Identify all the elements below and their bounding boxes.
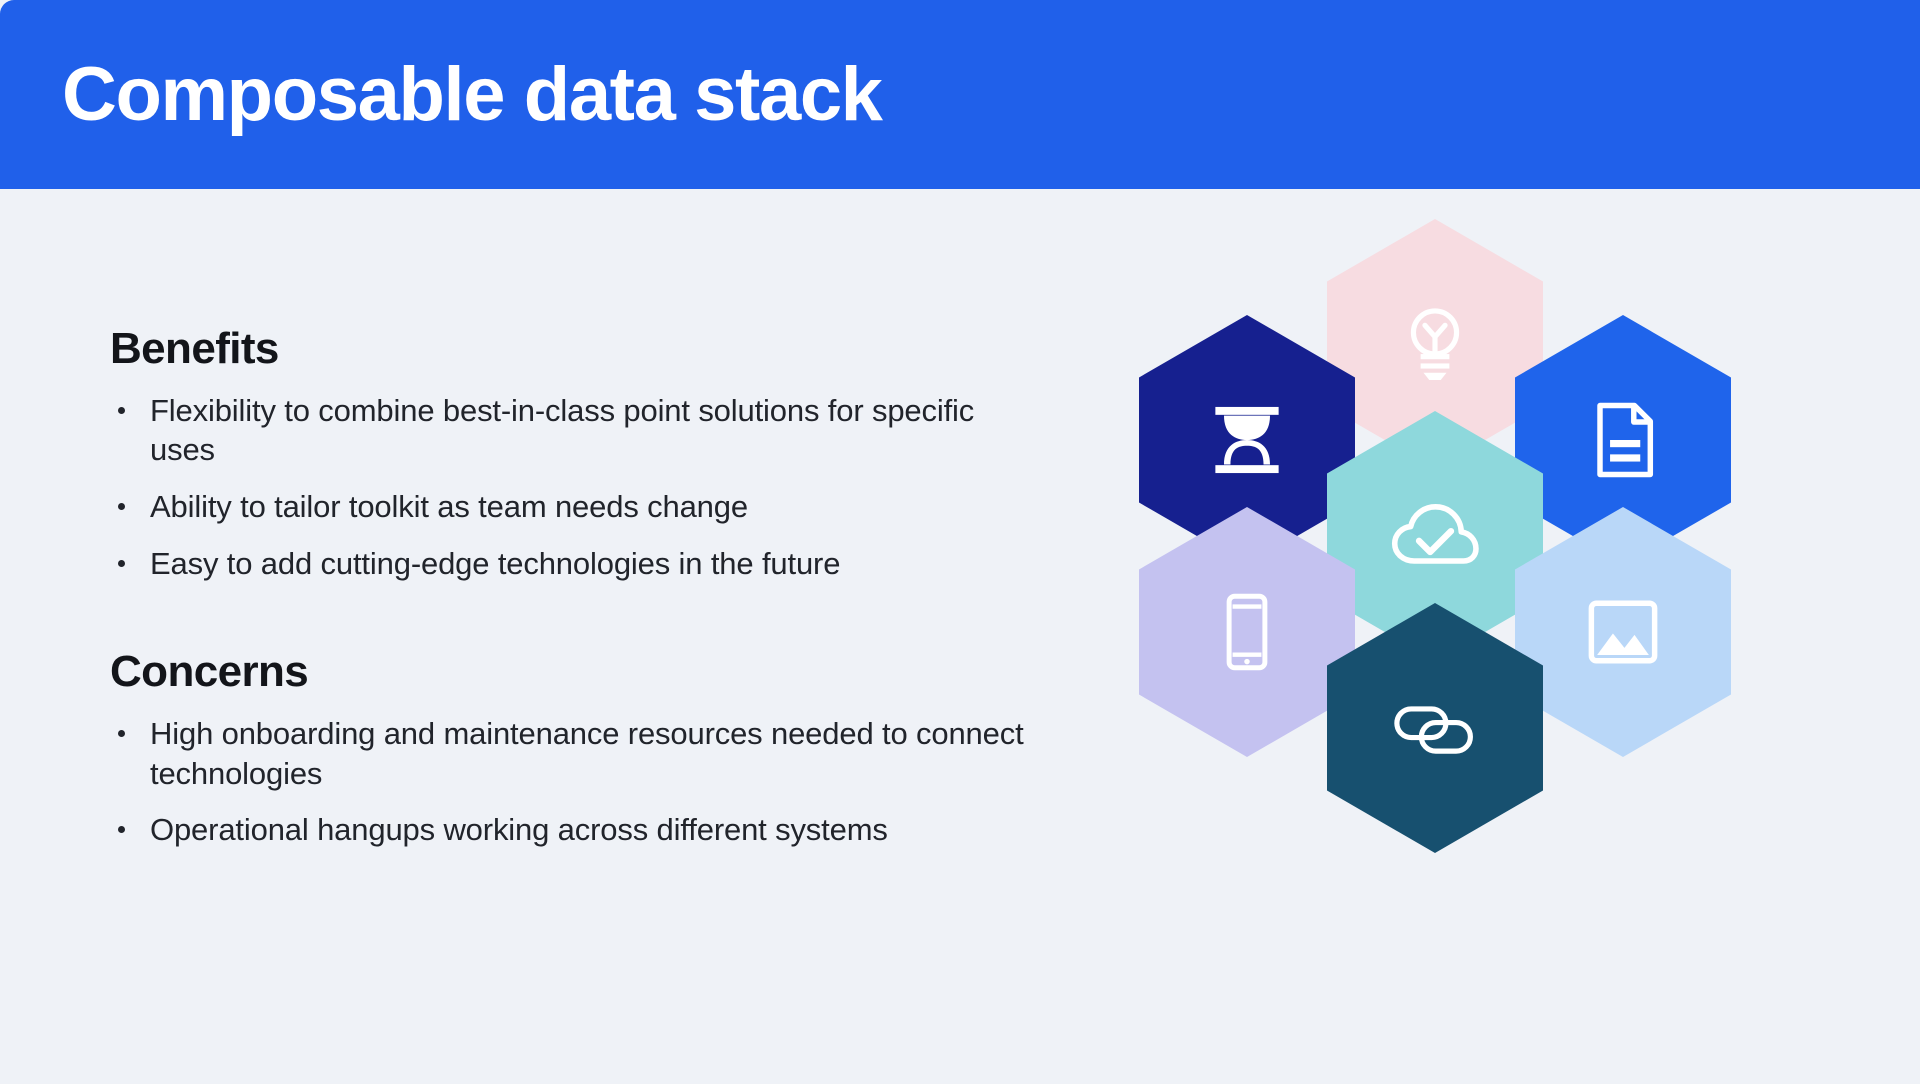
list-item-text: Operational hangups working across diffe… — [150, 812, 888, 847]
link-icon — [1386, 679, 1484, 777]
benefits-heading: Benefits — [110, 324, 1040, 375]
bullet-dot-icon — [118, 560, 125, 567]
content-area: Benefits Flexibility to combine best-in-… — [0, 189, 1920, 1084]
list-item: Operational hangups working across diffe… — [110, 810, 1040, 850]
hourglass-icon — [1201, 394, 1293, 486]
bullet-dot-icon — [118, 730, 125, 737]
list-item-text: Easy to add cutting-edge technologies in… — [150, 546, 840, 581]
section-concerns: Concerns High onboarding and maintenance… — [110, 647, 1040, 850]
section-benefits: Benefits Flexibility to combine best-in-… — [110, 324, 1040, 583]
concerns-heading: Concerns — [110, 647, 1040, 698]
cloud-check-icon — [1385, 486, 1485, 586]
mobile-phone-icon — [1203, 588, 1291, 676]
list-item: Easy to add cutting-edge technologies in… — [110, 544, 1040, 584]
image-icon — [1577, 586, 1669, 678]
list-item: High onboarding and maintenance resource… — [110, 714, 1040, 793]
list-item-text: Ability to tailor toolkit as team needs … — [150, 489, 748, 524]
hexagon-cluster-graphic — [1085, 219, 1785, 839]
page-title: Composable data stack — [62, 57, 882, 133]
list-item: Ability to tailor toolkit as team needs … — [110, 487, 1040, 527]
document-icon — [1577, 394, 1669, 486]
hex-tile-link — [1327, 603, 1543, 853]
hex-tile-image — [1515, 507, 1731, 757]
page-header: Composable data stack — [0, 0, 1920, 189]
list-item: Flexibility to combine best-in-class poi… — [110, 391, 1040, 470]
text-column: Benefits Flexibility to combine best-in-… — [110, 324, 1040, 850]
list-item-text: Flexibility to combine best-in-class poi… — [150, 393, 974, 468]
bullet-dot-icon — [118, 503, 125, 510]
benefits-list: Flexibility to combine best-in-class poi… — [110, 391, 1040, 584]
concerns-list: High onboarding and maintenance resource… — [110, 714, 1040, 850]
bullet-dot-icon — [118, 826, 125, 833]
hex-tile-mobile-phone — [1139, 507, 1355, 757]
bullet-dot-icon — [118, 407, 125, 414]
list-item-text: High onboarding and maintenance resource… — [150, 716, 1024, 791]
lightbulb-icon — [1389, 298, 1481, 390]
